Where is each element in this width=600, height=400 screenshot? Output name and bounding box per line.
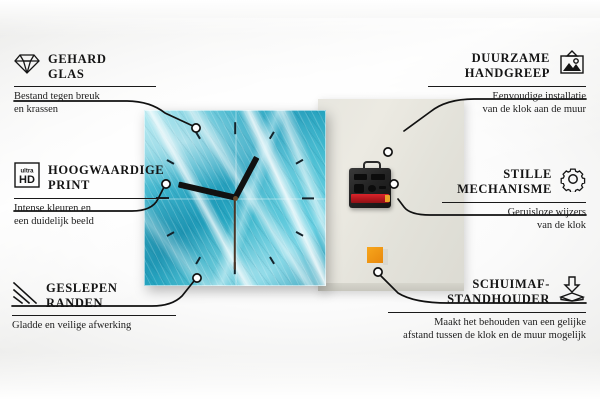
callout-title-line2: GLAS — [48, 67, 106, 82]
movement-slot-d — [379, 186, 386, 189]
movement-slot-a — [354, 174, 367, 180]
clock-battery — [351, 194, 389, 203]
ultra-hd-icon: ultra HD — [14, 162, 40, 193]
movement-slot-c — [354, 184, 364, 193]
battery-positive-terminal — [385, 195, 390, 202]
infographic-canvas: GEHARD GLAS Bestand tegen breuk en krass… — [0, 0, 600, 400]
callout-title-line1: HOOGWAARDIGE — [48, 163, 164, 178]
callout-rule — [442, 202, 586, 203]
callout-schuimafstandhouder[interactable]: SCHUIMAF- STANDHOUDER Maakt het behouden… — [386, 276, 586, 342]
callout-hoogwaardige-print[interactable]: ultra HD HOOGWAARDIGE PRINT Intense kleu… — [14, 162, 174, 228]
movement-dial — [368, 185, 376, 192]
callout-sub-line1: Intense kleuren en — [14, 203, 174, 216]
diamond-icon — [14, 53, 40, 80]
callout-header-duurzame-handgreep: DUURZAME HANDGREEP — [424, 50, 586, 81]
callout-rule — [12, 315, 176, 316]
callout-title-line1: STILLE — [457, 167, 552, 182]
clock-center-pin — [233, 196, 238, 201]
movement-slot-b — [371, 174, 385, 180]
callout-duurzame-handgreep[interactable]: DUURZAME HANDGREEP Eenvoudige installati… — [424, 50, 586, 116]
callout-sub-line2: afstand tussen de klok en de muur mogeli… — [386, 330, 586, 343]
callout-sub-line2: en krassen — [14, 104, 164, 117]
callout-header-gehard-glas: GEHARD GLAS — [14, 52, 164, 81]
callout-title-line1: DUURZAME — [465, 51, 550, 66]
foam-spacer-shadow — [383, 249, 388, 265]
foam-standoff-icon — [558, 276, 586, 307]
clock-second-hand — [234, 198, 236, 270]
callout-sub-line1: Gladde en veilige afwerking — [12, 320, 184, 333]
callout-title-line2: RANDEN — [46, 296, 118, 311]
callout-title-line2: STANDHOUDER — [447, 292, 550, 307]
callout-title-line1: GESLEPEN — [46, 281, 118, 296]
callout-title-line1: SCHUIMAF- — [447, 277, 550, 292]
clock-tick — [234, 122, 236, 134]
callout-sub-line1: Geruisloze wijzers — [440, 207, 586, 220]
callout-geslepen-randen[interactable]: GESLEPEN RANDEN Gladde en veilige afwerk… — [12, 281, 184, 333]
callout-rule — [428, 86, 586, 87]
callout-header-schuimafstandhouder: SCHUIMAF- STANDHOUDER — [386, 276, 586, 307]
callout-header-hoogwaardige-print: ultra HD HOOGWAARDIGE PRINT — [14, 162, 174, 193]
callout-sub-line1: Maakt het behouden van een gelijke — [386, 317, 586, 330]
callout-rule — [14, 198, 166, 199]
callout-rule — [14, 86, 156, 87]
callout-sub-line1: Eenvoudige installatie — [424, 91, 586, 104]
callout-title-line1: GEHARD — [48, 52, 106, 67]
callout-title-line2: HANDGREEP — [465, 66, 550, 81]
callout-header-stille-mechanisme: STILLE MECHANISME — [440, 166, 586, 197]
gear-icon — [560, 166, 586, 197]
beveled-edges-icon — [12, 281, 38, 310]
svg-text:HD: HD — [19, 174, 35, 186]
callout-gehard-glas[interactable]: GEHARD GLAS Bestand tegen breuk en krass… — [14, 52, 164, 116]
callout-sub-line2: een duidelijk beeld — [14, 216, 174, 229]
foam-spacer — [367, 247, 383, 263]
callout-sub-line2: van de klok — [440, 220, 586, 233]
callout-title-line2: PRINT — [48, 178, 164, 193]
callout-sub-line1: Bestand tegen breuk — [14, 91, 164, 104]
picture-frame-icon — [558, 50, 586, 81]
callout-rule — [388, 312, 586, 313]
callout-stille-mechanisme[interactable]: STILLE MECHANISME Geruisloze wijzers van… — [440, 166, 586, 232]
callout-sub-line2: van de klok aan de muur — [424, 104, 586, 117]
callout-title-line2: MECHANISME — [457, 182, 552, 197]
clock-tick — [301, 197, 313, 199]
callout-header-geslepen-randen: GESLEPEN RANDEN — [12, 281, 184, 310]
